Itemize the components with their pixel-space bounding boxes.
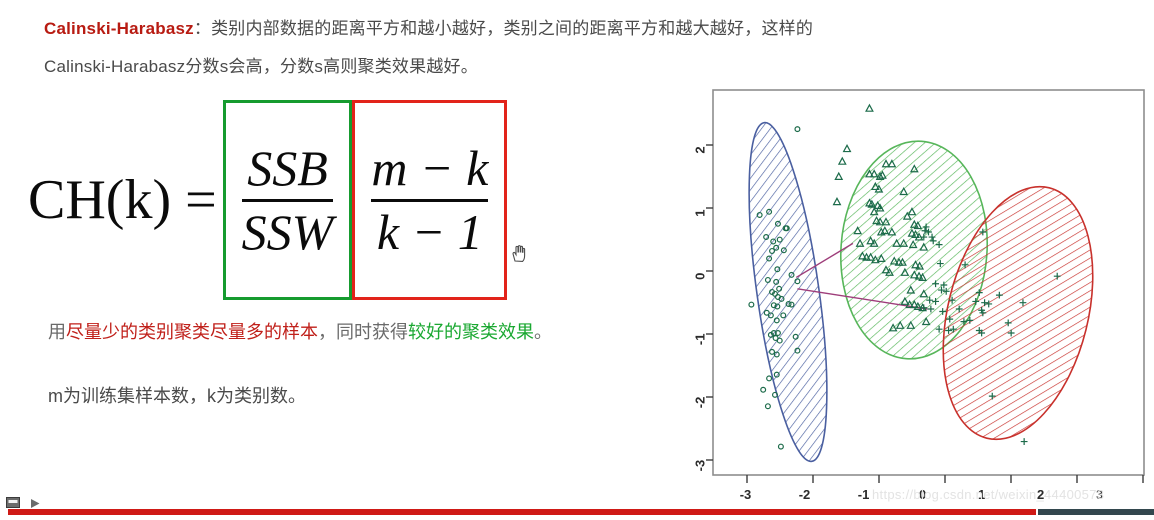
red-boxed-fraction: m − k k − 1 <box>352 100 507 300</box>
summary-seg-5: 。 <box>534 322 552 342</box>
summary-seg-green: 较好的聚类效果 <box>408 322 534 342</box>
red-fraction-numerator: m − k <box>371 142 488 195</box>
red-fraction-denominator: k − 1 <box>377 206 483 259</box>
hand-pointer-cursor-icon <box>509 240 529 264</box>
slide-canvas: Calinski-Harabasz：类别内部数据的距离平方和越小越好，类别之间的… <box>0 0 1154 520</box>
x-tick-label: -2 <box>799 487 811 502</box>
taskbar-icon-group[interactable] <box>6 497 40 508</box>
x-tick-label: -1 <box>858 487 870 502</box>
heading-line-1: Calinski-Harabasz：类别内部数据的距离平方和越小越好，类别之间的… <box>44 14 813 39</box>
summary-seg-red: 尽量少的类别聚类尽量多的样本 <box>66 322 318 342</box>
watermark-text: https://blog.csdn.net/weixin_44400573 <box>872 487 1104 502</box>
heading-colon: ： <box>194 19 211 38</box>
window-icon[interactable] <box>6 497 20 508</box>
heading-line-2: Calinski-Harabasz分数s会高，分数s高则聚类效果越好。 <box>44 52 478 77</box>
scatter-plot-svg: 210-1-2-3 -3-2-10123 <box>690 82 1154 507</box>
y-tick-label: 0 <box>693 273 708 280</box>
heading-line-1-body: 类别内部数据的距离平方和越小越好，类别之间的距离平方和越大越好，这样的 <box>211 19 813 38</box>
green-fraction-denominator: SSW <box>242 206 334 259</box>
y-tick-label: -2 <box>693 397 708 409</box>
y-tick-label: 1 <box>693 209 708 216</box>
bottom-progress-bar[interactable] <box>0 509 1154 516</box>
y-tick-label: 2 <box>693 146 708 153</box>
formula-block: CH(k) = SSB SSW m − k k − 1 <box>28 100 507 300</box>
y-tick-label: -3 <box>693 460 708 472</box>
y-axis-ticks <box>706 145 713 460</box>
x-axis-ticks <box>747 475 1143 483</box>
x-tick-label: -3 <box>740 487 752 502</box>
progress-fill <box>8 509 1036 515</box>
summary-seg-3: ，同时获得 <box>318 322 408 342</box>
progress-track <box>1038 509 1154 515</box>
summary-sentence: 用尽量少的类别聚类尽量多的样本，同时获得较好的聚类效果。 <box>48 318 552 344</box>
green-fraction-numerator: SSB <box>247 142 328 195</box>
summary-seg-1: 用 <box>48 322 66 342</box>
formula-left-hand-side: CH(k) = <box>28 172 223 228</box>
green-boxed-fraction: SSB SSW <box>223 100 353 300</box>
term-calinski-harabasz: Calinski-Harabasz <box>44 19 194 38</box>
pointer-arrow-icon[interactable] <box>25 497 40 508</box>
red-fraction-bar <box>371 199 488 202</box>
variable-definition-line: m为训练集样本数，k为类别数。 <box>48 382 306 408</box>
y-axis-tick-labels: 210-1-2-3 <box>693 146 708 471</box>
formula-boxed-terms: SSB SSW m − k k − 1 <box>223 100 508 300</box>
y-tick-label: -1 <box>693 334 708 346</box>
green-fraction-bar <box>242 199 334 202</box>
cluster-scatter-plot: 210-1-2-3 -3-2-10123 <box>690 82 1154 507</box>
